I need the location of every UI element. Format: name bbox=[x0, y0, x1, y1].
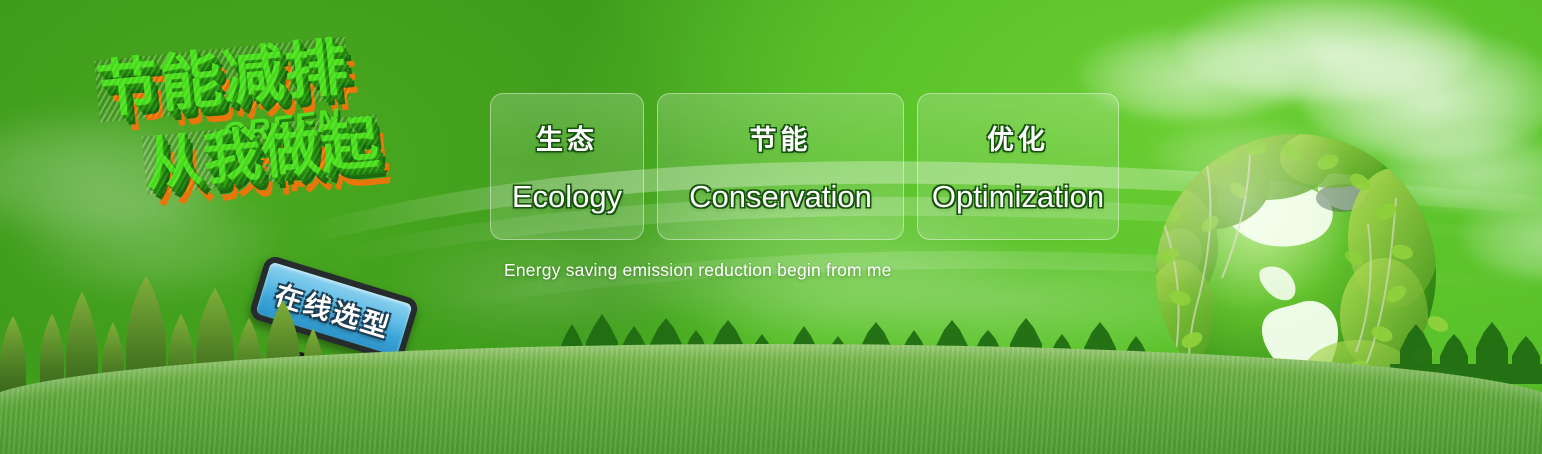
cloud-icon bbox=[1460, 190, 1542, 280]
cloud-icon bbox=[1180, 0, 1480, 102]
feature-card-conservation[interactable]: 节能 Conservation bbox=[657, 93, 904, 240]
feature-card-optimization[interactable]: 优化 Optimization bbox=[917, 93, 1119, 240]
green-energy-banner: 节能减排 节能减排 节能减排 节能减排 节能减排 GREEN 从我做起 从我做起… bbox=[0, 0, 1542, 454]
feature-card-conservation-cn: 节能 bbox=[750, 118, 812, 157]
feature-card-optimization-en: Optimization bbox=[932, 179, 1104, 215]
feature-card-optimization-cn: 优化 bbox=[987, 118, 1049, 157]
feature-card-conservation-en: Conservation bbox=[689, 179, 872, 215]
feature-card-ecology-en: Ecology bbox=[512, 179, 622, 215]
banner-subtitle: Energy saving emission reduction begin f… bbox=[504, 260, 892, 281]
feature-card-ecology-cn: 生态 bbox=[536, 118, 598, 157]
grass-field bbox=[0, 344, 1542, 454]
feature-card-ecology[interactable]: 生态 Ecology bbox=[490, 93, 644, 240]
online-selection-button-label: 在线选型 bbox=[271, 273, 397, 345]
headline-3d-art: 节能减排 节能减排 节能减排 节能减排 节能减排 GREEN 从我做起 从我做起… bbox=[85, 15, 506, 292]
